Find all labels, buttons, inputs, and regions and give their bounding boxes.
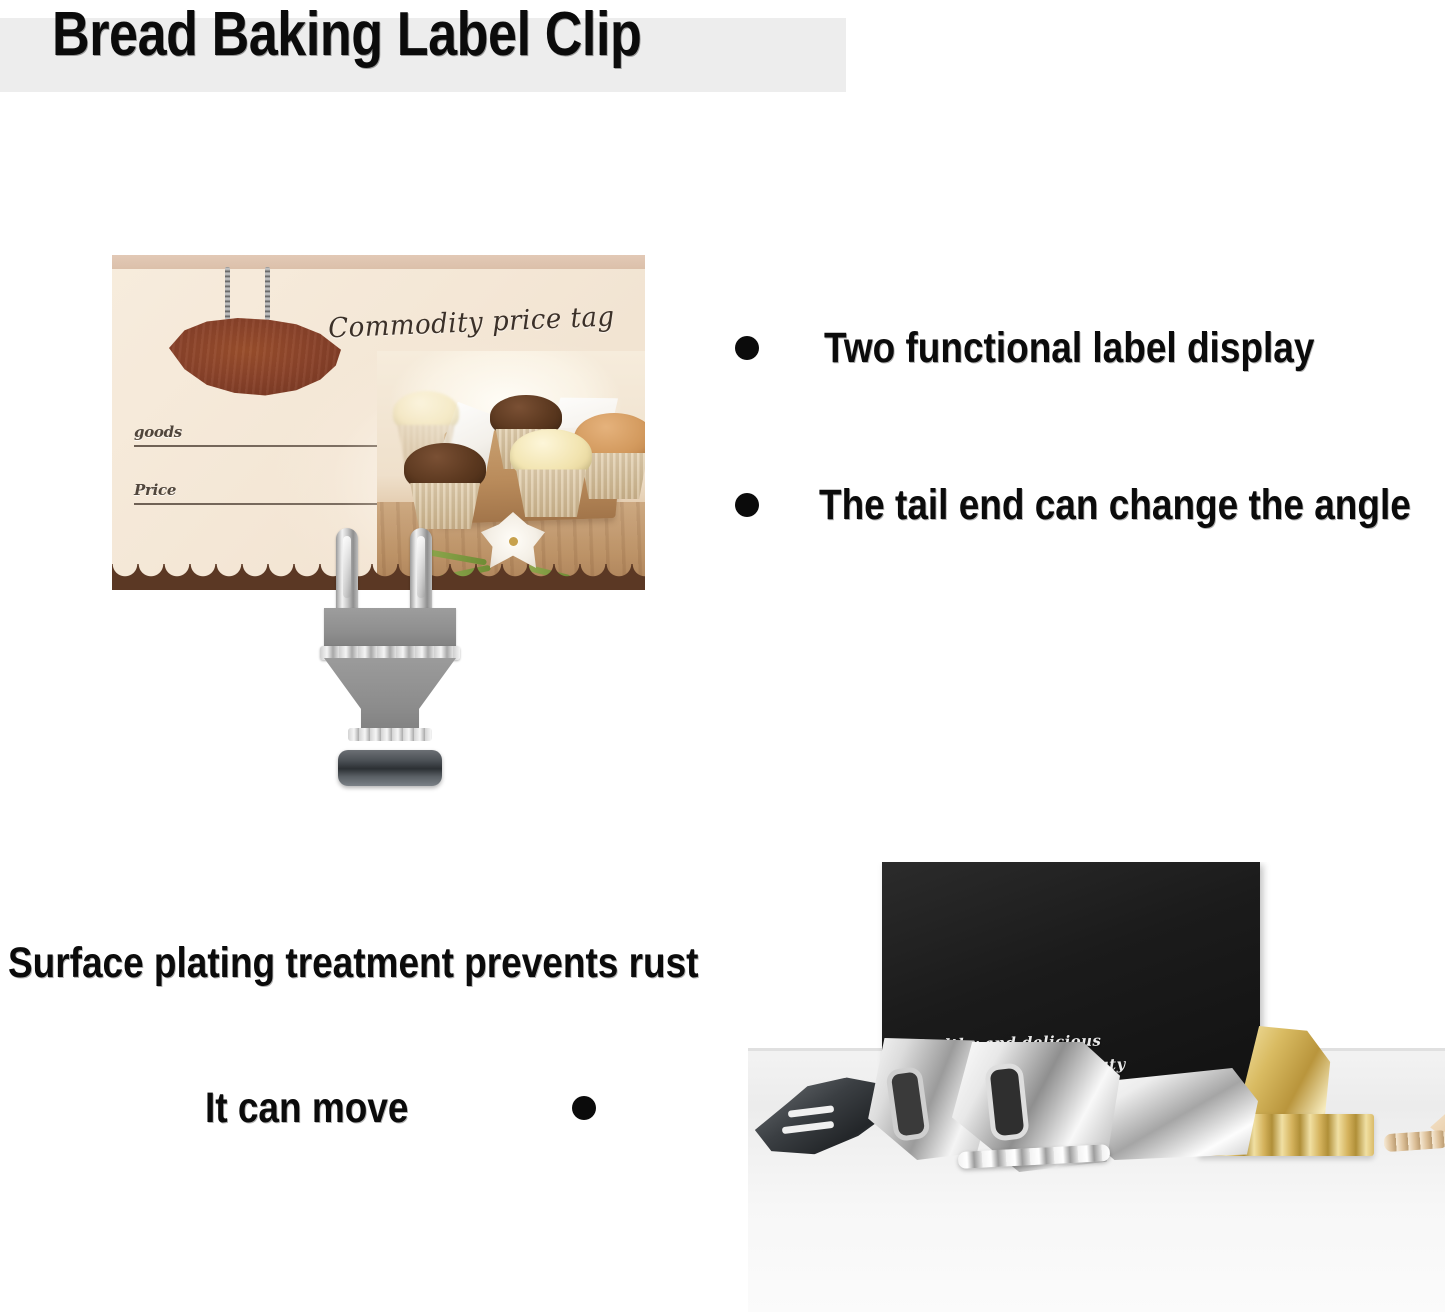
hanging-chain-right [265,267,270,320]
cupcake-front-left [407,443,483,529]
cupcake-liner [407,483,483,529]
price-field-row: Price [134,481,412,505]
clip-lower-hinge [348,728,432,741]
feature-item-1: Two functional label display [735,325,1394,371]
metal-clip-stand [320,528,460,741]
bullet-icon [735,336,759,360]
bullet-icon [735,493,759,517]
feature-item-3: Surface plating treatment prevents rust [8,940,845,986]
hanging-chain-left [225,267,230,320]
clip-upper-hinge [320,646,460,660]
card-top-strip [112,255,645,269]
cupcake-mid-front [513,429,589,517]
page-title: Bread Baking Label Clip [52,2,641,68]
feature-label-2: The tail end can change the angle [819,482,1411,528]
feature-item-2: The tail end can change the angle [735,482,1445,528]
goods-field-label: goods [134,423,412,441]
clip-rubber-grip [338,750,442,786]
feature-label-1: Two functional label display [824,325,1314,371]
product-photo-clip-collection: Healthy and delicious delicious food and… [748,862,1445,1312]
feature-label-4: It can move [205,1085,408,1131]
cupcake-liner [513,469,589,517]
wooden-plaque [169,311,341,399]
bullet-icon [572,1096,596,1120]
feature-item-4: It can move [205,1085,596,1131]
price-field-label: Price [134,481,412,499]
goods-field-row: goods [134,423,412,447]
price-field-line [134,503,412,505]
clip-prong-left [336,528,358,620]
clip-prong-right [410,528,432,620]
commodity-price-tag-heading: Commodity price tag [328,301,616,344]
feature-label-3: Surface plating treatment prevents rust [8,940,698,986]
goods-field-line [134,445,412,447]
silver-clip-front-aperture [984,1062,1030,1142]
wood-grain-texture [169,311,341,399]
clip-top-plate [324,608,456,650]
orchid-center [509,537,518,546]
